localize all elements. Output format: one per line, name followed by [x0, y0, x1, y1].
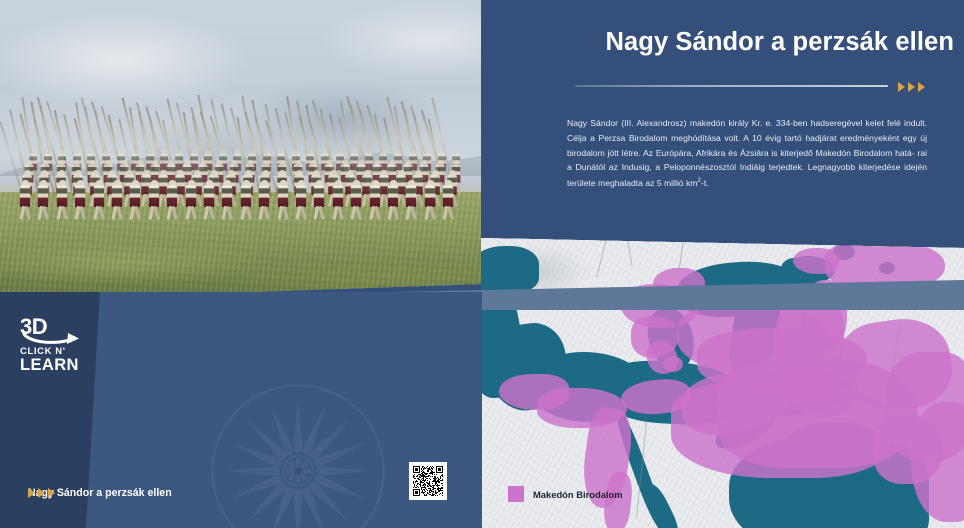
- header-panel: Nagy Sándor a perzsák ellen Nagy Sándor …: [481, 0, 964, 240]
- title-divider: [575, 85, 888, 87]
- legend-swatch-macedonian-empire: [508, 486, 524, 502]
- body-line-2: Célja a Perzsa Birodalom meghódítása vol…: [567, 133, 927, 143]
- body-line-5-end: -t.: [701, 178, 709, 188]
- map-legend: Makedón Birodalom: [508, 486, 623, 502]
- footer: Nagy Sándor a perzsák ellen: [28, 487, 172, 499]
- body-line-3: birodalom jött létre. Az Európára, Afrik…: [567, 148, 915, 158]
- photo-soldier-ranks: [0, 0, 481, 302]
- triple-chevron-right-icon: [898, 82, 925, 92]
- phalanx-photo: [0, 0, 481, 302]
- qr-code-icon[interactable]: [409, 462, 447, 500]
- logo-learn-text: LEARN: [20, 357, 102, 374]
- curved-arrow-icon: [20, 330, 92, 346]
- slide-root: Nagy Sándor a perzsák ellen Nagy Sándor …: [0, 0, 964, 528]
- triple-chevron-right-icon: [28, 488, 55, 498]
- empire-map[interactable]: Makedón Birodalom: [481, 232, 964, 528]
- body-paragraph: Nagy Sándor (III. Alexandrosz) makedón k…: [567, 116, 927, 191]
- body-line-1: Nagy Sándor (III. Alexandrosz) makedón k…: [567, 118, 927, 128]
- click-n-learn-logo[interactable]: 3D CLICK N' LEARN: [20, 316, 102, 374]
- page-title: Nagy Sándor a perzsák ellen: [589, 28, 954, 56]
- map-empire-overlay: [481, 232, 964, 528]
- vergina-sun-icon: [205, 378, 391, 528]
- legend-label-macedonian-empire: Makedón Birodalom: [533, 489, 623, 500]
